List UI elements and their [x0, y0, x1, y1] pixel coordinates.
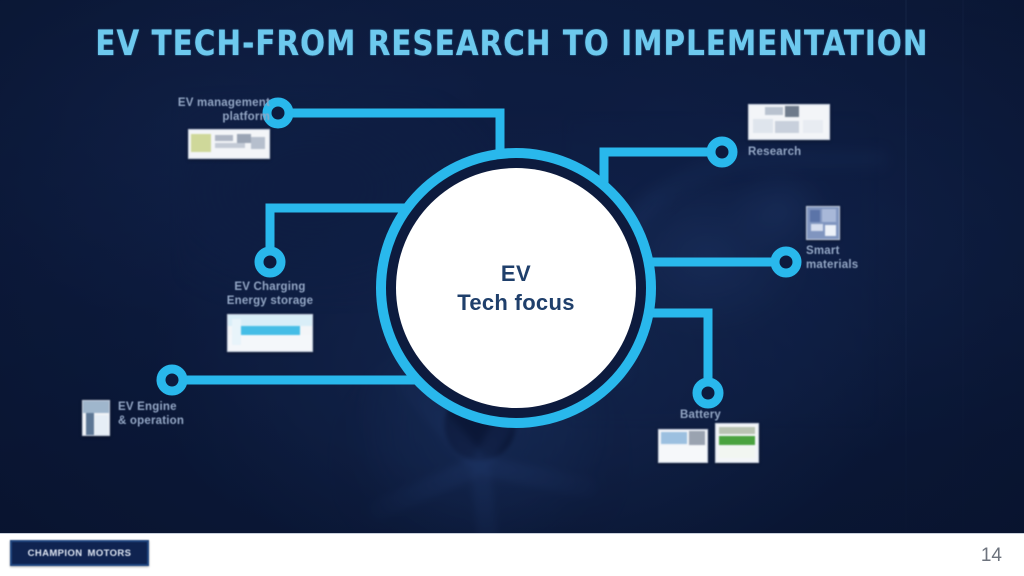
logo-word-2: MOTORS: [88, 548, 132, 559]
node-ev-charging-energy-storage: EV Charging Energy storage: [205, 280, 335, 352]
node-label-mgmt: EV management platform: [130, 96, 270, 125]
node-dot-engine: [161, 369, 183, 391]
node-label-research: Research: [748, 145, 898, 159]
node-ev-management-platform: EV management platform: [130, 96, 270, 159]
page-number: 14: [981, 545, 1002, 567]
center-hub: EV Tech focus: [396, 168, 636, 408]
node-thumbnail-research: [748, 104, 830, 140]
logo-word-1: CHAMPION: [28, 548, 83, 559]
node-thumbnail-engine: [82, 400, 110, 436]
node-dot-mgmt: [267, 102, 289, 124]
center-hub-line1: EV: [501, 262, 531, 285]
company-logo: CHAMPION MOTORS: [10, 540, 149, 566]
node-label-smart: Smart materials: [806, 244, 926, 273]
slide-canvas: EV TECH-FROM RESEARCH TO IMPLEMENTATION: [0, 0, 1024, 576]
node-dot-charging: [259, 251, 281, 273]
node-smart-materials: Smart materials: [806, 206, 926, 273]
node-dot-battery: [697, 382, 719, 404]
center-hub-line2: Tech focus: [457, 291, 575, 314]
center-hub-text: EV Tech focus: [396, 168, 636, 408]
node-thumbnail-smart: [806, 206, 840, 240]
node-label-charging: EV Charging Energy storage: [205, 280, 335, 309]
slide-footer: 14: [0, 533, 1024, 576]
node-label-engine: EV Engine & operation: [118, 400, 184, 429]
node-dot-smart: [775, 251, 797, 273]
node-label-battery: Battery: [680, 408, 778, 422]
node-battery: Battery: [658, 408, 778, 463]
node-research: Research: [748, 104, 898, 159]
node-thumbnail-mgmt: [188, 129, 270, 159]
node-dot-research: [711, 141, 733, 163]
node-thumbnail-battery-2: [715, 423, 759, 463]
node-thumbnail-charging: [227, 314, 313, 352]
node-ev-engine-operation: EV Engine & operation: [82, 400, 232, 436]
node-thumbnail-battery-1: [658, 429, 708, 463]
